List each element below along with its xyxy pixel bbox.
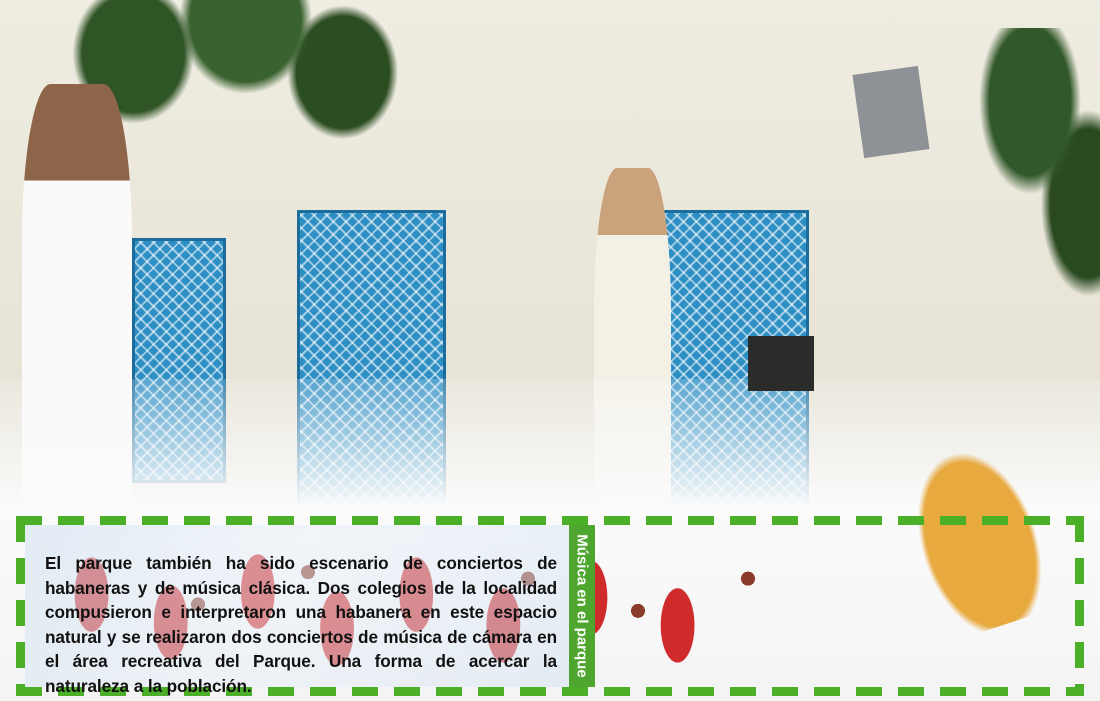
dashed-border-right (1075, 516, 1084, 696)
music-section: El parque también ha sido escenario de c… (16, 516, 1084, 696)
panel-music-description: El parque también ha sido escenario de c… (25, 525, 575, 687)
photo-violinist (22, 84, 132, 177)
photo-park-concert (0, 0, 480, 177)
music-description-text: El parque también ha sido escenario de c… (45, 551, 557, 699)
dashed-border-top (16, 516, 1084, 525)
music-tab-label: Música en el parque (574, 534, 591, 677)
dashed-border-left (16, 516, 25, 696)
poster-page: RUTAS Ecoturísticas Guiadas Educación Am… (0, 0, 1100, 701)
music-vertical-tab: Música en el parque (569, 525, 595, 687)
